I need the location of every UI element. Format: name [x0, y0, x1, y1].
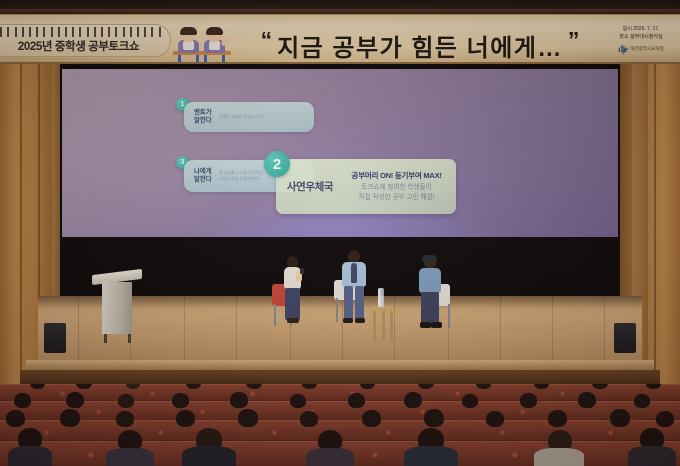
banner-tick-decoration — [0, 27, 161, 37]
audience-seating — [0, 384, 680, 466]
slide-bubble-3-title: 나에게 말한다 — [194, 168, 212, 184]
slide-bubble-1: 멘토가 말한다 진솔한 경험과 진심의 조언 — [184, 102, 314, 132]
leg-left — [344, 286, 353, 320]
shoe-right — [355, 318, 365, 323]
logo-mark-icon: dje — [618, 44, 627, 54]
projection-screen: 1 멘토가 말한다 진솔한 경험과 진심의 조언 3 나에게 말한다 내 마음을… — [62, 69, 618, 237]
logo-text: 대전광역시교육청 — [630, 46, 664, 52]
slide-card-2-subtitle: 토크쇼에 참여한 학생들이 직접 작성한 공부 고민 해결! — [344, 183, 449, 202]
banner-info-block: 일시 2025. 7. 17. 장소 설무대시청각실 dje 대전광역시교육청 — [604, 26, 678, 64]
auditorium-photo: 2025년 중학생 공부토크쇼 “ 지금 공부가 힘든 너에게… ” 일시 20… — [0, 0, 680, 466]
stage-monitor-left — [44, 323, 66, 353]
cartoon-student-right-icon — [198, 27, 232, 63]
podium-body — [102, 282, 132, 334]
quote-close-mark: ” — [568, 29, 580, 52]
cap-icon — [422, 255, 437, 261]
jacket — [419, 268, 441, 293]
slide-bubble-1-title: 멘토가 말한다 — [194, 109, 212, 125]
event-banner: 2025년 중학생 공부토크쇼 “ 지금 공부가 힘든 너에게… ” 일시 20… — [0, 14, 680, 64]
banner-title: 2025년 중학생 공부토크쇼 — [18, 38, 139, 54]
slide-bubble-1-subtitle: 진솔한 경험과 진심의 조언 — [219, 114, 264, 120]
leg-right — [355, 286, 364, 320]
podium — [98, 272, 136, 344]
slide-card-2-headline: 공부머리 ON! 동기부여 MAX! — [344, 170, 449, 181]
legs — [285, 288, 300, 320]
education-office-logo: dje 대전광역시교육청 — [604, 44, 678, 54]
legs — [421, 292, 439, 324]
slide-card-2-body: 공부머리 ON! 동기부여 MAX! 토크쇼에 참여한 학생들이 직접 작성한 … — [344, 170, 456, 202]
banner-date: 일시 2025. 7. 17. — [604, 26, 678, 34]
quote-open-mark: “ — [261, 29, 273, 52]
shoe-left — [420, 322, 431, 328]
slide-number-2: 2 — [264, 151, 290, 177]
water-bottle — [378, 288, 384, 307]
banner-title-plate: 2025년 중학생 공부토크쇼 — [0, 24, 171, 57]
side-stool — [372, 306, 394, 340]
shoes — [287, 318, 299, 323]
inner-shirt — [351, 263, 357, 283]
banner-quote-text: 지금 공부가 힘든 너에게… — [277, 28, 563, 63]
shoe-left — [343, 318, 353, 323]
person-host — [278, 256, 316, 338]
person-mentor-2 — [412, 256, 454, 342]
slide-card-2: 사연우체국 공부머리 ON! 동기부여 MAX! 토크쇼에 참여한 학생들이 직… — [276, 159, 456, 214]
slide-bubble-3-subtitle: 내 마음을 스스로 다독이는 나만의 공부 다짐 한마디 — [219, 170, 264, 181]
banner-quote: “ 지금 공부가 힘든 너에게… ” — [236, 25, 604, 64]
stage-monitor-right — [614, 323, 636, 353]
slide-card-2-title: 사연우체국 — [276, 179, 344, 194]
banner-place: 장소 설무대시청각실 — [604, 34, 678, 42]
microphone-icon — [300, 268, 304, 274]
shoe-right — [431, 322, 442, 328]
audience-shoulders — [8, 446, 52, 466]
